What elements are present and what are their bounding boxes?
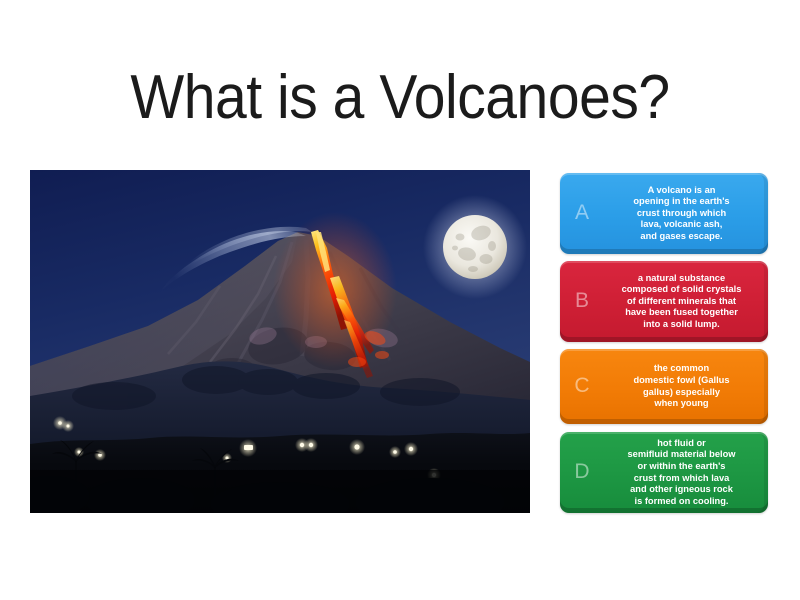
answer-b-line-5: into a solid lump. [604, 319, 759, 331]
answer-d-line-4: crust from which lava [604, 473, 759, 485]
answer-d-line-6: is formed on cooling. [604, 496, 759, 508]
answer-c-line-2: domestic fowl (Gallus [604, 375, 759, 387]
answer-d-line-5: and other igneous rock [604, 484, 759, 496]
answer-d-line-1: hot fluid or [604, 438, 759, 450]
answer-letter-a: A [560, 202, 604, 225]
page-title: What is a Volcanoes? [32, 62, 768, 134]
answer-text-c: the common domestic fowl (Gallus gallus)… [604, 363, 768, 409]
answer-text-a: A volcano is an opening in the earth's c… [604, 185, 768, 243]
answer-option-d[interactable]: D hot fluid or semifluid material below … [560, 432, 768, 513]
answer-b-line-3: of different minerals that [604, 296, 759, 308]
answer-option-a[interactable]: A A volcano is an opening in the earth's… [560, 173, 768, 254]
answer-b-line-2: composed of solid crystals [604, 284, 759, 296]
answer-d-line-3: or within the earth's [604, 461, 759, 473]
answer-a-line-4: lava, volcanic ash, [604, 219, 759, 231]
foreground-dark-base [30, 470, 530, 513]
answer-option-c[interactable]: C the common domestic fowl (Gallus gallu… [560, 349, 768, 424]
answer-b-line-4: have been fused together [604, 307, 759, 319]
question-image [30, 170, 530, 513]
answer-letter-d: D [560, 461, 604, 484]
answer-c-line-3: gallus) especially [604, 387, 759, 399]
volcano-photo [30, 170, 530, 513]
answer-b-line-1: a natural substance [604, 273, 759, 285]
answer-text-d: hot fluid or semifluid material below or… [604, 438, 768, 508]
answer-options-list: A A volcano is an opening in the earth's… [560, 173, 768, 513]
answer-option-b[interactable]: B a natural substance composed of solid … [560, 261, 768, 342]
answer-a-line-5: and gases escape. [604, 231, 759, 243]
answer-a-line-3: crust through which [604, 208, 759, 220]
answer-c-line-1: the common [604, 363, 759, 375]
answer-a-line-1: A volcano is an [604, 185, 759, 197]
answer-letter-c: C [560, 375, 604, 398]
answer-a-line-2: opening in the earth's [604, 196, 759, 208]
answer-d-line-2: semifluid material below [604, 449, 759, 461]
answer-letter-b: B [560, 290, 604, 313]
answer-c-line-4: when young [604, 398, 759, 410]
answer-text-b: a natural substance composed of solid cr… [604, 273, 768, 331]
